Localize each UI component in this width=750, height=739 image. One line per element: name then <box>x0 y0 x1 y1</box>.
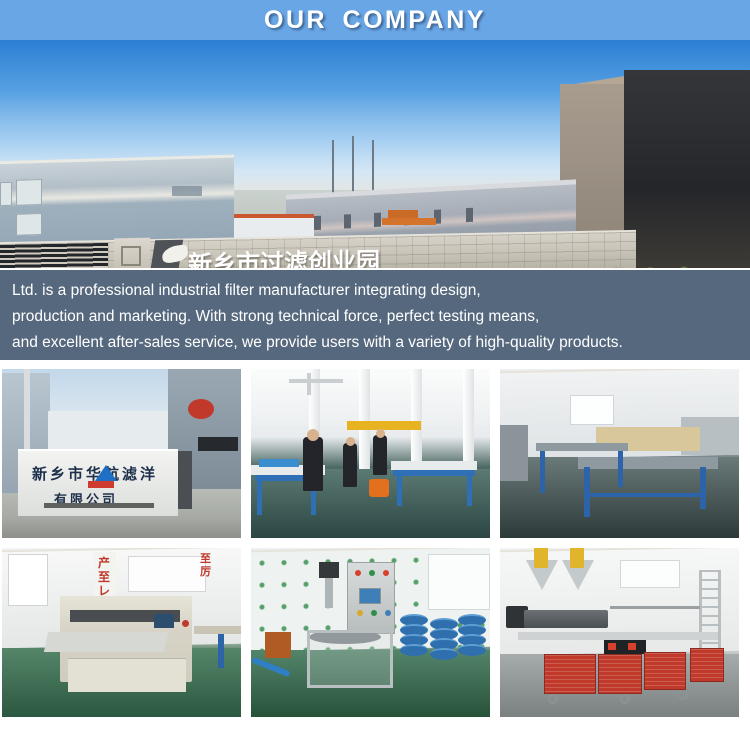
machine-touchscreen <box>154 614 174 628</box>
wooden-stool <box>265 632 291 658</box>
facility-gallery: 新乡市华航滤洋 有限公司 <box>2 369 748 719</box>
gallery-item-worktable-area[interactable] <box>500 369 739 538</box>
curb <box>44 503 154 508</box>
page-header: OUR COMPANY <box>0 0 750 40</box>
worker-head <box>307 429 319 441</box>
ceiling-fan-pole <box>307 373 311 395</box>
worktable-frame <box>393 470 475 476</box>
worker-figure <box>373 435 387 475</box>
worktable-leg <box>618 451 623 487</box>
description-line-1: Ltd. is a professional industrial filter… <box>12 278 738 304</box>
red-cabinet <box>690 648 724 682</box>
led-display <box>628 643 636 650</box>
ground <box>2 516 241 538</box>
wall-emblem-icon <box>121 246 141 266</box>
window <box>128 556 206 592</box>
worker-figure <box>303 437 323 491</box>
red-cabinet <box>598 654 642 694</box>
worktable-top <box>391 461 477 470</box>
window <box>570 395 614 425</box>
window <box>428 554 490 610</box>
worktable-leg <box>257 479 262 515</box>
gantry-crane <box>382 218 436 225</box>
worker-head <box>346 437 355 446</box>
red-lantern-icon <box>188 399 214 419</box>
window <box>8 554 48 606</box>
caster-wheel <box>548 694 558 704</box>
company-profile-page: OUR COMPANY 新乡市 <box>0 0 750 739</box>
tower-dark-facade <box>624 70 750 268</box>
panel-button <box>357 610 363 616</box>
extruder-barrel <box>524 610 608 628</box>
red-cabinet <box>544 654 596 694</box>
drive-shaft <box>325 578 333 608</box>
company-logo-icon <box>95 465 117 481</box>
machine-deck <box>518 632 718 640</box>
worktable-leg <box>540 451 545 493</box>
machine-block <box>500 425 528 481</box>
worktable-leg <box>467 474 472 506</box>
panel-button <box>385 610 391 616</box>
led-display <box>608 643 616 650</box>
hero-image: 新乡市过滤创业园 <box>0 40 750 268</box>
indicator-lamp <box>383 570 389 576</box>
wall-banner <box>347 421 421 430</box>
logo-red-bar <box>88 481 114 488</box>
dark-signboard <box>198 437 238 451</box>
machine-base-cabinet <box>68 658 186 692</box>
red-cabinet <box>644 652 686 690</box>
gallery-item-company-signboard[interactable]: 新乡市华航滤洋 有限公司 <box>2 369 241 538</box>
worktable-leg <box>584 467 590 517</box>
hopper-cap <box>570 548 584 568</box>
fabric-stack <box>259 459 299 467</box>
side-table <box>194 626 241 634</box>
page-title: OUR COMPANY <box>264 6 486 35</box>
blue-end-cap-stacks <box>400 614 488 676</box>
worker-head <box>376 429 385 438</box>
worktable-top <box>536 443 628 451</box>
wall-scroll-text-right: 至厉 <box>200 552 211 578</box>
wall-scroll-text: 产至レ <box>98 556 110 598</box>
gallery-item-cutting-machine[interactable]: 产至レ 至厉 <box>2 548 241 717</box>
gallery-item-welding-machine[interactable] <box>251 548 490 717</box>
gallery-item-assembly-workshop[interactable] <box>251 369 490 538</box>
worktable-leg <box>397 474 402 506</box>
worktable-rail <box>584 493 706 497</box>
side-table-leg <box>218 634 224 668</box>
emergency-stop-button <box>182 620 189 627</box>
indicator-lamp <box>369 570 375 576</box>
worktable-leg <box>700 467 706 509</box>
description-line-3: and excellent after-sales service, we pr… <box>12 330 738 356</box>
building-logo <box>172 186 202 196</box>
caster-wheel <box>678 690 688 700</box>
column <box>463 369 474 473</box>
panel-button <box>371 610 377 616</box>
window <box>620 560 680 588</box>
indicator-lamp <box>355 570 361 576</box>
hopper-cap <box>534 548 548 568</box>
cooling-tubes <box>610 606 700 609</box>
drive-motor <box>319 562 339 578</box>
gallery-item-extrusion-line[interactable] <box>500 548 739 717</box>
description-line-2: production and marketing. With strong te… <box>12 304 738 330</box>
worktable-top <box>578 457 718 469</box>
worker-figure <box>343 443 357 487</box>
aluminium-ladder <box>699 570 721 656</box>
feed-tray <box>44 632 168 652</box>
wall-louver-panel <box>0 243 108 268</box>
company-description-panel: Ltd. is a professional industrial filter… <box>0 270 750 360</box>
ceiling <box>251 369 490 426</box>
hmi-touchscreen <box>359 588 381 604</box>
orange-stool <box>369 479 389 497</box>
ceiling-fan-icon <box>289 379 343 383</box>
caster-wheel <box>620 694 630 704</box>
machine-frame <box>307 630 393 688</box>
